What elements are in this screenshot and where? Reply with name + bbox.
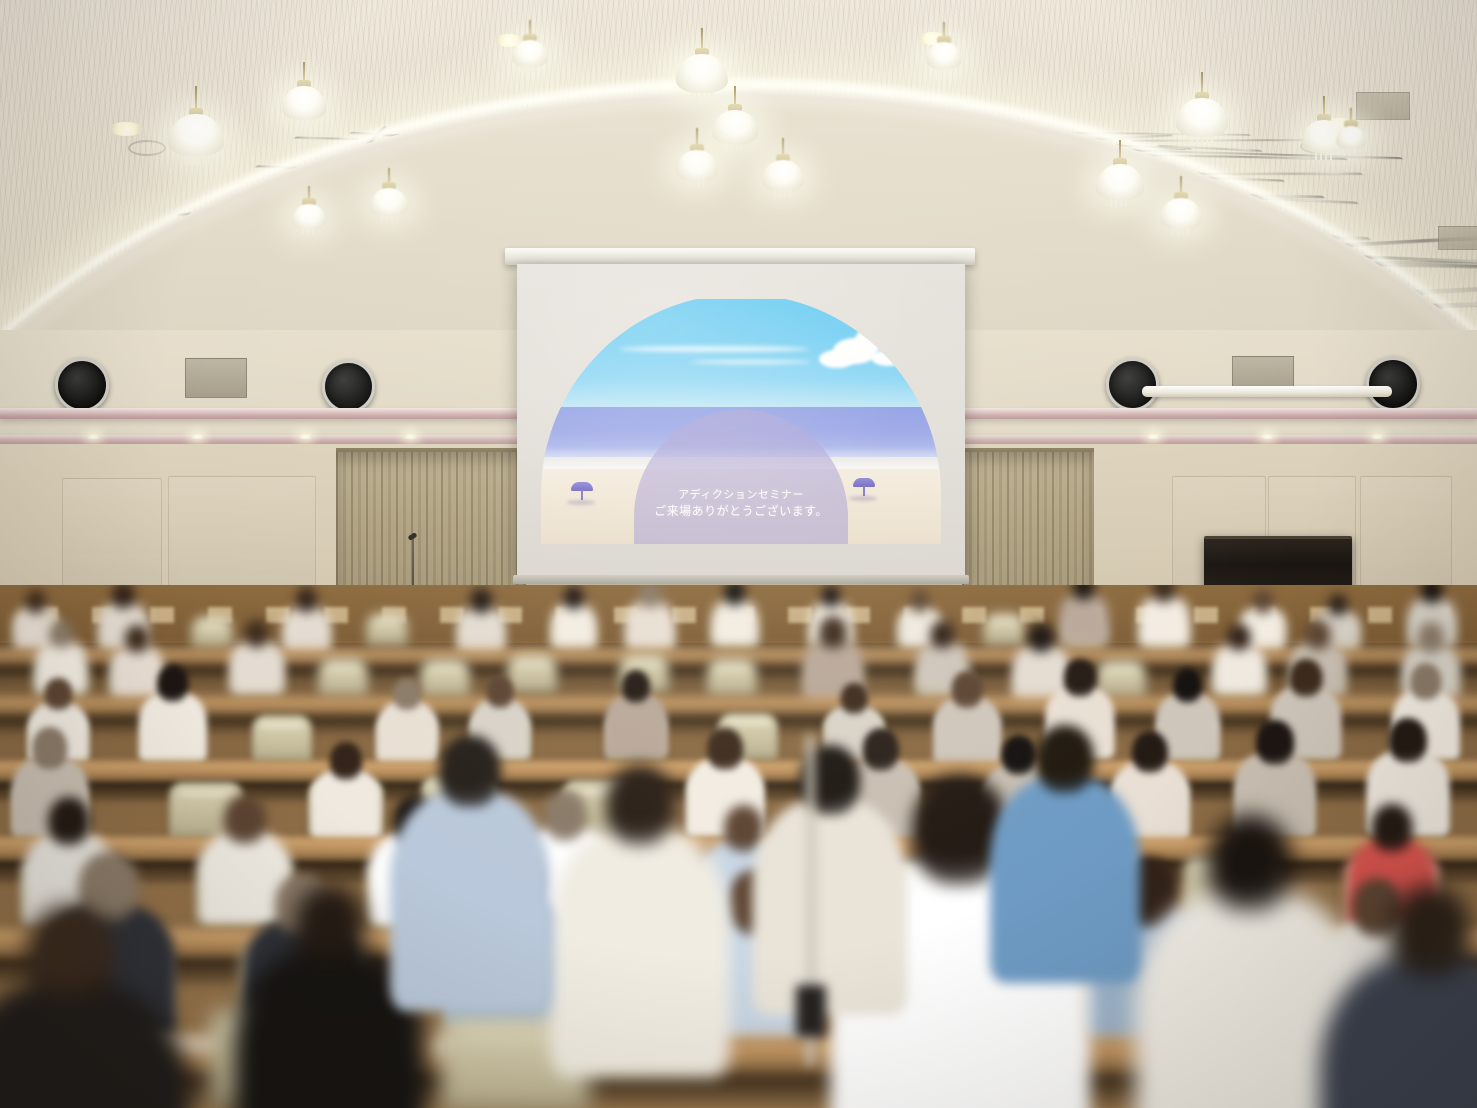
person-head — [1306, 620, 1331, 650]
person-torso — [606, 694, 667, 757]
person-head — [1328, 594, 1347, 616]
chair — [366, 613, 408, 647]
person-torso — [1320, 957, 1477, 1108]
person-torso — [990, 778, 1140, 983]
wall-speaker — [1106, 358, 1159, 411]
pendant-lamp — [1336, 108, 1366, 157]
lamp-fringe — [1345, 147, 1358, 153]
pendant-lamp — [1176, 72, 1228, 145]
person-head — [724, 585, 745, 606]
person-head — [1421, 585, 1443, 604]
person-torso — [753, 800, 908, 1015]
person-head — [486, 676, 513, 708]
person-head — [45, 678, 72, 710]
foreground-audience-member — [753, 745, 908, 1030]
audience-member — [606, 670, 667, 766]
person-head — [1064, 659, 1096, 696]
audience-member — [1214, 624, 1264, 703]
person-head — [606, 765, 674, 845]
person-torso — [0, 983, 190, 1108]
person-head — [1418, 622, 1444, 653]
person-head — [708, 728, 744, 770]
person-head — [819, 616, 847, 649]
person-head — [1072, 585, 1095, 601]
person-head — [470, 588, 492, 613]
wall-spotlight — [1262, 434, 1273, 439]
lamp-shade — [282, 86, 326, 120]
tripod-head — [796, 985, 826, 1037]
audience-table — [0, 697, 1477, 713]
person-head — [1208, 815, 1292, 911]
person-head — [26, 905, 114, 1005]
umbrella-shadow — [849, 496, 877, 501]
person-head — [910, 590, 929, 613]
pendant-lamp — [676, 128, 718, 189]
wall-light-bar — [1142, 386, 1392, 397]
lamp-fringe — [302, 227, 316, 234]
pendant-lamp — [370, 168, 408, 224]
lamp-fringe — [1172, 227, 1190, 235]
beach-umbrella — [571, 482, 593, 506]
lamp-shade — [1176, 98, 1228, 137]
pendant-lamp — [1160, 176, 1202, 237]
wall-spotlight — [88, 434, 99, 439]
pendant-lamp — [712, 86, 758, 152]
lamp-shade — [712, 110, 758, 144]
person-torso — [283, 606, 331, 655]
wall-spotlight — [300, 434, 311, 439]
person-head — [931, 621, 954, 648]
umbrella-pole — [863, 486, 865, 496]
person-torso — [626, 601, 675, 651]
lamp-fringe — [1315, 151, 1333, 160]
chair — [252, 715, 312, 763]
person-head — [224, 795, 266, 844]
wall-spotlight — [1372, 434, 1383, 439]
pendant-lamp — [282, 62, 326, 128]
lamp-fringe — [936, 67, 951, 74]
person-head — [563, 586, 584, 610]
lamp-shade — [292, 204, 326, 229]
pendant-lamp — [926, 22, 962, 77]
pendant-lamp — [762, 138, 804, 199]
projection-screen-weight-bar — [513, 575, 969, 584]
cloud-streak — [619, 346, 809, 352]
person-head — [1410, 663, 1441, 700]
person-head — [1290, 659, 1323, 698]
lamp-shade — [1096, 164, 1144, 200]
umbrella-shadow — [567, 500, 595, 505]
pendant-lamp — [168, 86, 224, 164]
person-torso — [230, 640, 283, 695]
lamp-shade — [676, 150, 718, 181]
ceiling-ring — [128, 140, 166, 156]
person-head — [1036, 725, 1094, 793]
lamp-shade — [1160, 198, 1202, 229]
lamp-fringe — [1110, 198, 1130, 207]
person-head — [1372, 804, 1413, 852]
person-head — [157, 665, 188, 702]
lamp-fringe — [691, 91, 713, 101]
foreground-audience-member — [550, 765, 730, 1095]
lamp-fringe — [774, 189, 792, 197]
audience-member — [138, 665, 207, 772]
person-head — [841, 683, 868, 714]
person-head — [25, 590, 45, 614]
lamp-shade — [168, 114, 224, 156]
lamp-shade — [1336, 126, 1366, 149]
audience-member — [711, 585, 757, 653]
pendant-lamp — [512, 20, 548, 75]
cloud-streak — [691, 360, 811, 364]
person-torso — [1139, 596, 1189, 648]
downlight-icon — [108, 122, 144, 136]
person-head — [49, 621, 72, 649]
dark-cabinet — [1204, 536, 1352, 587]
lamp-fringe — [184, 154, 208, 165]
person-head — [330, 742, 362, 780]
lamp-fringe — [381, 214, 397, 221]
person-head — [112, 585, 134, 609]
person-head — [622, 670, 650, 703]
person-head — [295, 885, 365, 967]
lamp-shade — [926, 42, 962, 69]
foreground-audience-member — [390, 735, 550, 1027]
cloud-puff — [871, 350, 905, 366]
foreground-audience-member — [990, 725, 1140, 998]
audience-member — [1139, 585, 1189, 655]
beach-umbrella — [853, 478, 875, 502]
lamp-shade — [762, 160, 804, 191]
person-torso — [458, 606, 505, 654]
person-head — [821, 585, 840, 608]
person-head — [1028, 623, 1054, 654]
slide-title-line2: ご来場ありがとうございます。 — [654, 503, 828, 520]
seminar-hall-photo: アディクションセミナー ご来場ありがとうございます。 — [0, 0, 1477, 1108]
person-head — [394, 678, 422, 711]
cloud-puff — [855, 328, 885, 352]
foreground-audience-member — [0, 905, 190, 1108]
lamp-shade — [512, 40, 548, 67]
audience-member — [230, 620, 283, 703]
ceiling-vent — [1438, 226, 1477, 250]
person-head — [125, 625, 149, 653]
wall-speaker — [55, 358, 109, 412]
person-head — [296, 587, 318, 613]
person-head — [1389, 718, 1427, 763]
wall-speaker — [1366, 357, 1420, 411]
person-torso — [550, 827, 730, 1077]
slide-photo-dome: アディクションセミナー ご来場ありがとうございます。 — [541, 299, 941, 544]
audience-member — [551, 586, 596, 656]
person-torso — [711, 599, 757, 647]
wall-speaker — [322, 360, 375, 413]
foreground-audience-member — [1320, 885, 1477, 1108]
person-head — [32, 727, 67, 769]
slide-title-line1: アディクションセミナー — [654, 487, 828, 503]
person-head — [48, 797, 89, 846]
chair — [318, 658, 368, 698]
projection-screen-housing — [505, 248, 975, 265]
audience-seating-area — [0, 585, 1477, 1108]
lamp-shade — [370, 188, 408, 216]
person-torso — [138, 692, 207, 762]
wall-spotlight — [192, 434, 203, 439]
person-head — [1252, 590, 1272, 614]
pendant-lamp — [1096, 140, 1144, 208]
person-head — [1390, 885, 1470, 977]
lamp-fringe — [688, 179, 706, 187]
person-head — [245, 620, 269, 649]
lamp-fringe — [725, 142, 744, 151]
wall-vent — [185, 358, 247, 398]
wall-spotlight — [1148, 434, 1159, 439]
chair — [707, 658, 757, 698]
person-torso — [1214, 643, 1264, 694]
person-head — [1228, 624, 1251, 651]
person-torso — [551, 603, 596, 649]
person-head — [439, 735, 501, 807]
lamp-fringe — [295, 118, 313, 127]
lamp-fringe — [1191, 135, 1213, 145]
cloud-puff — [819, 350, 855, 368]
chair — [191, 616, 233, 650]
pendant-lamp — [292, 186, 326, 237]
projection-screen: アディクションセミナー ご来場ありがとうございます。 — [517, 264, 965, 577]
presentation-slide: アディクションセミナー ご来場ありがとうございます。 — [531, 299, 951, 544]
slide-text-block: アディクションセミナー ご来場ありがとうございます。 — [654, 487, 828, 520]
lamp-fringe — [522, 65, 537, 72]
person-head — [1256, 720, 1294, 765]
person-head — [952, 671, 983, 707]
person-head — [1173, 668, 1203, 703]
person-torso — [390, 791, 550, 1011]
audience-member — [626, 585, 675, 659]
wall-spotlight — [405, 434, 416, 439]
umbrella-pole — [581, 490, 583, 500]
